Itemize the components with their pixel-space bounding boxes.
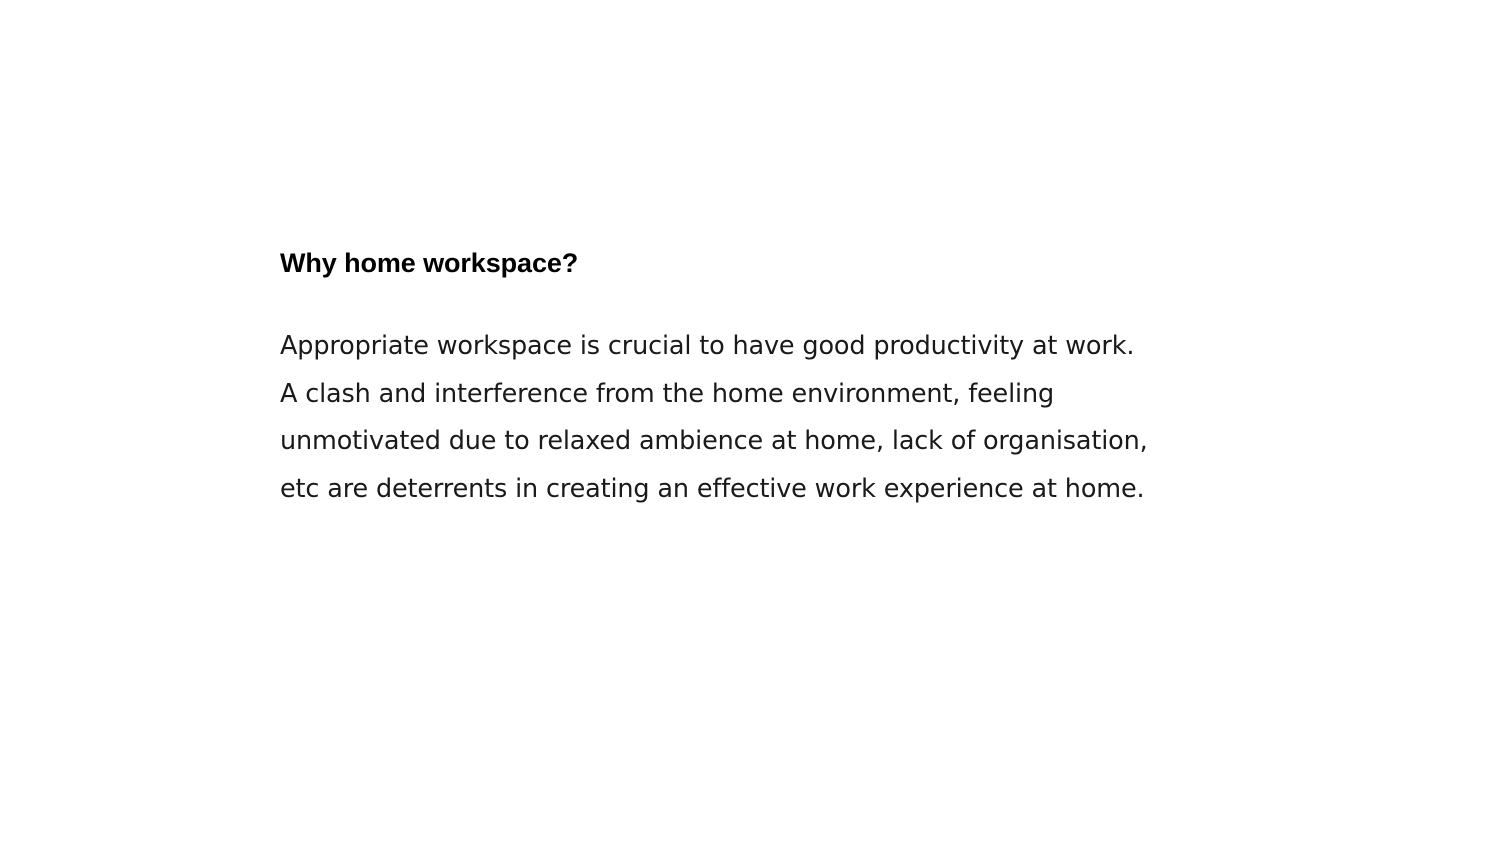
body-paragraph-line: Appropriate workspace is crucial to have… <box>280 323 1220 371</box>
body-paragraph: Appropriate workspace is crucial to have… <box>280 323 1220 513</box>
body-paragraph-line: A clash and interference from the home e… <box>280 371 1220 419</box>
body-paragraph-line: etc are deterrents in creating an effect… <box>280 466 1220 514</box>
page-title: Why home workspace? <box>280 244 1220 282</box>
text-content-block: Why home workspace? Appropriate workspac… <box>280 244 1220 513</box>
slide-canvas: Why home workspace? Appropriate workspac… <box>0 0 1500 844</box>
body-paragraph-line: unmotivated due to relaxed ambience at h… <box>280 418 1220 466</box>
